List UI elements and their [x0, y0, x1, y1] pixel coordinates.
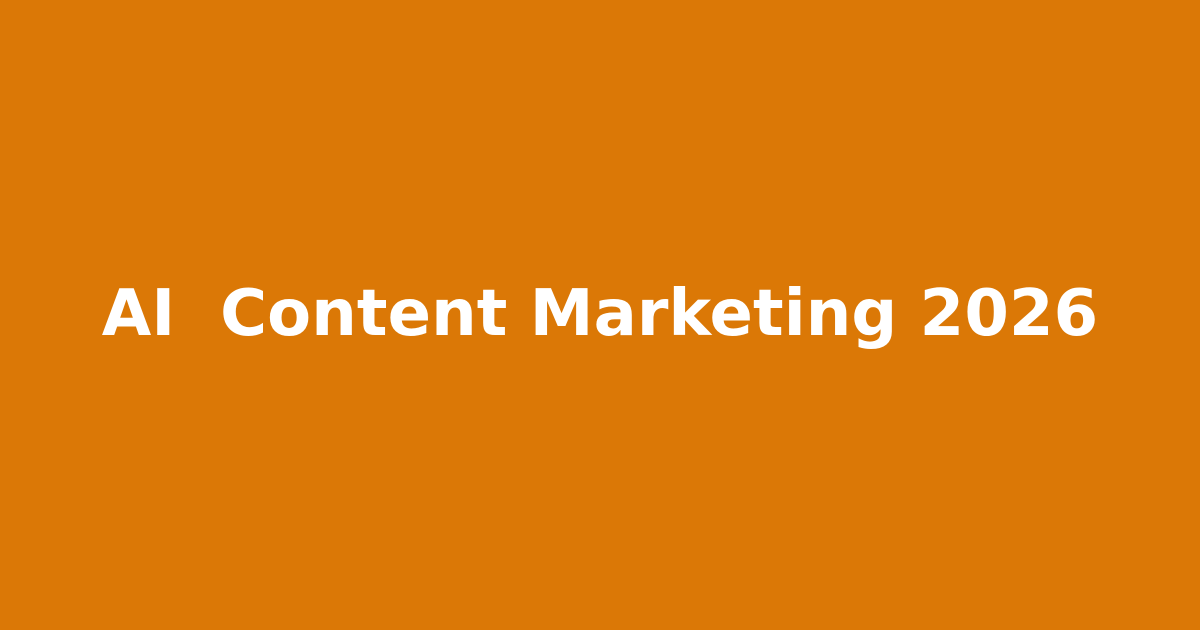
og-card: AI Content Marketing 2026: [0, 0, 1200, 630]
page-title: AI Content Marketing 2026: [102, 281, 1098, 348]
